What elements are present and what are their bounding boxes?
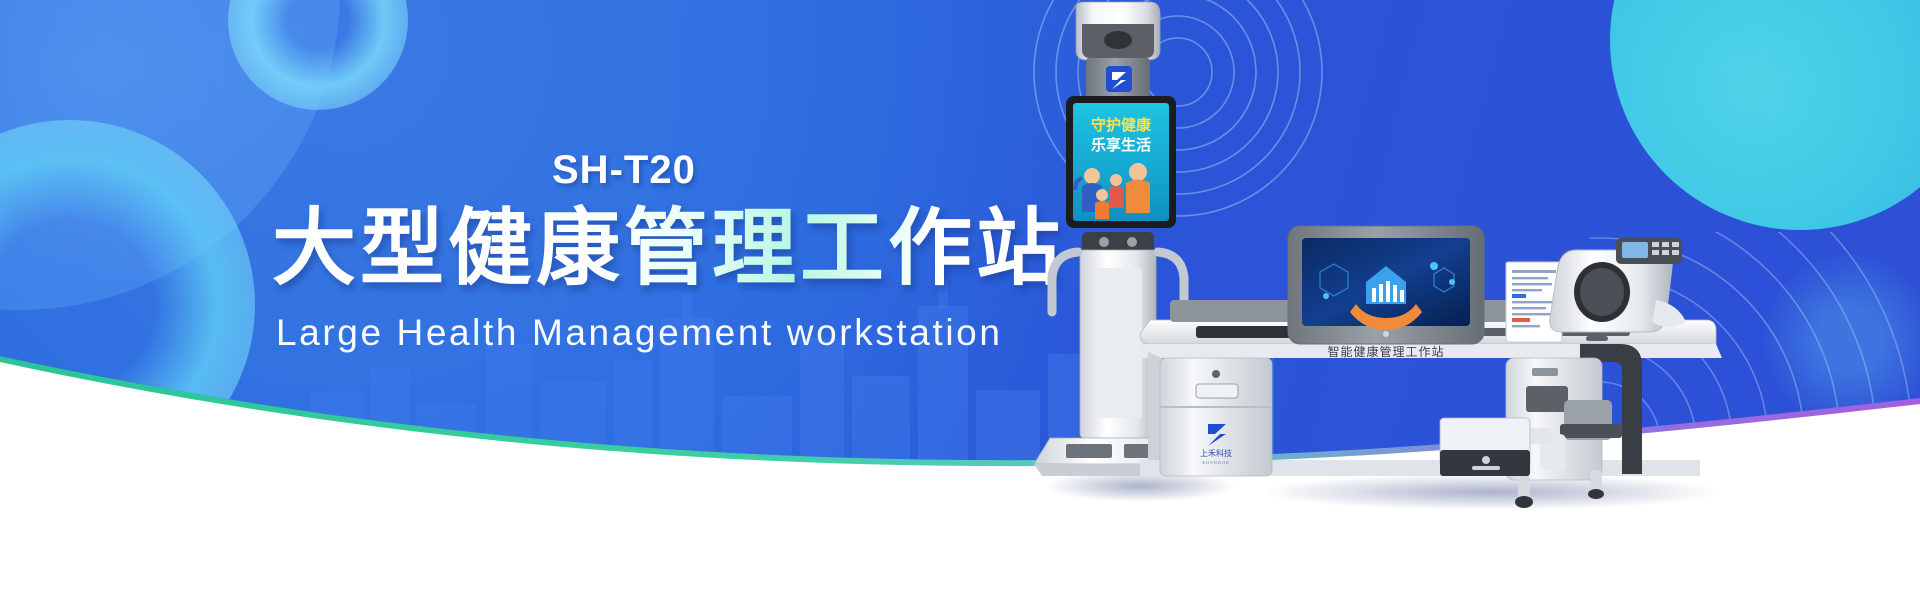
- desktop-monitor[interactable]: 智能健康管理工作站: [1288, 226, 1484, 359]
- bp-arm-rest: [1652, 300, 1686, 327]
- monitor-caption: 智能健康管理工作站: [1327, 344, 1444, 359]
- column-inset: [1094, 268, 1142, 418]
- monitor-indicator: [1383, 331, 1389, 337]
- printer-drawer[interactable]: [1440, 418, 1530, 476]
- product-hero-banner: SH-T20 大型健康管理工作站 Large Health Management…: [0, 0, 1920, 600]
- lcd-line-1: 守护健康: [1091, 116, 1152, 134]
- card-slot[interactable]: [1196, 384, 1238, 398]
- blood-pressure-monitor[interactable]: [1550, 238, 1686, 341]
- right-cabinet-panel: [1526, 386, 1568, 412]
- workstation-desk: 上禾科技 SHANGHE: [1136, 226, 1722, 508]
- page-title: 大型健康管理工作站: [272, 204, 1064, 293]
- cabinet-lock[interactable]: [1212, 370, 1220, 378]
- handrail-left: [1052, 252, 1078, 312]
- page-subtitle: Large Health Management workstation: [276, 312, 1003, 354]
- lcd-line-2: 乐享生活: [1091, 136, 1151, 154]
- kiosk-lcd-screen[interactable]: 守护健康 乐享生活: [1066, 96, 1176, 228]
- footprint-left: [1066, 444, 1112, 458]
- sensor-lens: [1104, 31, 1132, 49]
- left-printer-cabinet[interactable]: 上禾科技 SHANGHE: [1160, 358, 1272, 476]
- cabinet-logo-pinyin: SHANGHE: [1202, 460, 1230, 465]
- cabinet-logo-text: 上禾科技: [1200, 448, 1232, 458]
- palm-sensor-bar[interactable]: [1082, 232, 1154, 252]
- headline-block: SH-T20 大型健康管理工作站 Large Health Management…: [0, 0, 1040, 600]
- product-photo-group: 上禾科技 SHANGHE TECH 守护健康 乐享生活: [1020, 0, 1920, 600]
- model-code: SH-T20: [552, 148, 696, 193]
- desk-shadow: [1260, 474, 1720, 510]
